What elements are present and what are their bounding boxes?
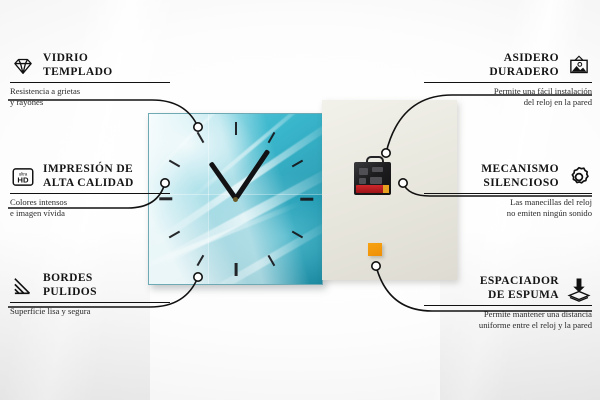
connector-dot-mecanismo (399, 179, 407, 187)
gear-icon (566, 164, 592, 190)
connector-dot-bordes (194, 273, 202, 281)
diamond-icon (10, 53, 36, 79)
feature-title: MECANISMO SILENCIOSO (481, 163, 559, 190)
feature-description: Permite mantener una distancia uniforme … (424, 309, 592, 330)
feature-block-asidero-duradero: ASIDERO DURADERO Permite una fácil insta… (424, 52, 592, 107)
feature-block-vidrio-templado: VIDRIO TEMPLADO Resistencia a grietas y … (10, 52, 170, 107)
feature-divider (424, 193, 592, 194)
feature-heading: ESPACIADOR DE ESPUMA (424, 275, 592, 302)
feature-title: VIDRIO TEMPLADO (43, 52, 113, 79)
feature-divider (424, 305, 592, 306)
feature-heading: ASIDERO DURADERO (424, 52, 592, 79)
svg-text:HD: HD (17, 175, 29, 184)
feature-title: ASIDERO DURADERO (489, 52, 559, 79)
connector-dot-vidrio-templado (194, 123, 202, 131)
foam-spacer-arrow-icon (566, 276, 592, 302)
feature-description: Superficie lisa y segura (10, 306, 170, 317)
feature-divider (10, 193, 170, 194)
product-infographic: VIDRIO TEMPLADO Resistencia a grietas y … (0, 0, 600, 400)
feature-title: BORDES PULIDOS (43, 272, 97, 299)
polished-edges-icon (10, 273, 36, 299)
feature-heading: BORDES PULIDOS (10, 272, 170, 299)
feature-divider (10, 82, 170, 83)
feature-description: Permite una fácil instalación del reloj … (424, 86, 592, 107)
picture-hanger-icon (566, 53, 592, 79)
feature-block-espaciador-de-espuma: ESPACIADOR DE ESPUMA Permite mantener un… (424, 275, 592, 330)
connector-dot-espaciador (372, 262, 380, 270)
connector-dot-asidero (382, 149, 390, 157)
feature-divider (10, 302, 170, 303)
feature-description: Colores intensos e imagen vívida (10, 197, 170, 218)
feature-title: ESPACIADOR DE ESPUMA (480, 275, 559, 302)
feature-title: IMPRESIÓN DE ALTA CALIDAD (43, 163, 134, 190)
feature-heading: VIDRIO TEMPLADO (10, 52, 170, 79)
feature-heading: MECANISMO SILENCIOSO (424, 163, 592, 190)
feature-block-bordes-pulidos: BORDES PULIDOS Superficie lisa y segura (10, 272, 170, 317)
feature-description: Las manecillas del reloj no emiten ningú… (424, 197, 592, 218)
feature-block-mecanismo-silencioso: MECANISMO SILENCIOSO Las manecillas del … (424, 163, 592, 218)
feature-block-impresion-alta-calidad: ultra HD IMPRESIÓN DE ALTA CALIDAD Color… (10, 163, 170, 218)
feature-description: Resistencia a grietas y rayones (10, 86, 170, 107)
feature-heading: ultra HD IMPRESIÓN DE ALTA CALIDAD (10, 163, 170, 190)
feature-divider (424, 82, 592, 83)
ultra-hd-badge-icon: ultra HD (10, 164, 36, 190)
